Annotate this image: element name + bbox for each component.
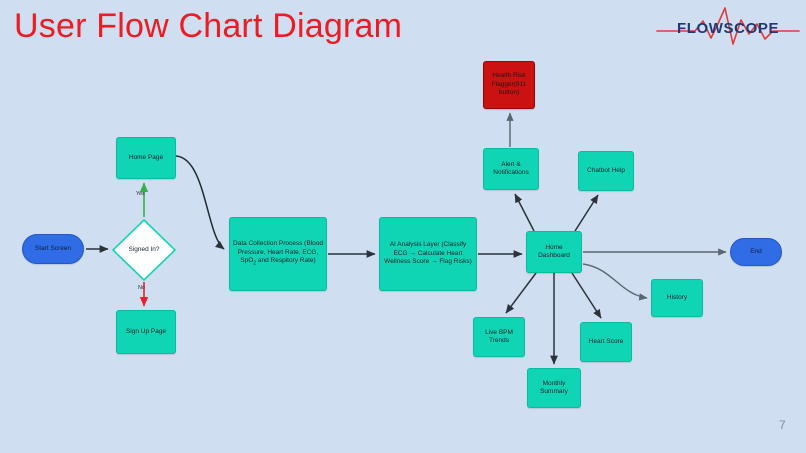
slide-canvas: User Flow Chart Diagram FLOWSCOPE 7: [0, 0, 806, 453]
node-label: Sign Up Page: [126, 328, 166, 336]
edge-label-no: No: [138, 285, 145, 291]
node-end[interactable]: End: [730, 238, 782, 266]
edge-label-yes: Yes: [136, 191, 145, 197]
node-label: AI Analysis Layer (Classify ECG → Calcul…: [383, 241, 473, 266]
node-label: Live BPM Trends: [477, 329, 521, 346]
node-label: History: [667, 294, 687, 302]
node-label: Data Collection Process (Blood Pressure,…: [233, 240, 323, 268]
node-health-risk-flagger[interactable]: Health Risk Flagger(911 button): [483, 61, 535, 109]
node-label: Signed In?: [128, 246, 159, 254]
node-history[interactable]: History: [651, 279, 703, 317]
node-alert-notifications[interactable]: Alert & Notifications: [483, 148, 539, 190]
edge-dashboard-alerts: [515, 194, 534, 231]
node-start-screen[interactable]: Start Screen: [22, 234, 84, 264]
edge-homepage-datacollect: [176, 156, 224, 249]
node-home-dashboard[interactable]: Home Dashboard: [526, 231, 582, 273]
node-signed-in-decision[interactable]: Signed In?: [112, 219, 176, 281]
node-ai-analysis-layer[interactable]: AI Analysis Layer (Classify ECG → Calcul…: [379, 217, 477, 291]
node-data-collection-process[interactable]: Data Collection Process (Blood Pressure,…: [229, 217, 327, 291]
edge-dashboard-bpm: [506, 273, 536, 313]
node-label: End: [750, 248, 762, 256]
node-label: Alert & Notifications: [487, 161, 535, 178]
edge-dashboard-chatbot: [575, 195, 598, 231]
node-monthly-summary[interactable]: Monthly Summary: [527, 368, 581, 408]
edge-dashboard-history: [583, 264, 647, 298]
node-label: Monthly Summary: [531, 380, 577, 397]
node-label: Home Dashboard: [530, 244, 578, 261]
node-sign-up-page[interactable]: Sign Up Page: [116, 310, 176, 354]
node-chatbot-help[interactable]: Chatbot Help: [578, 151, 634, 191]
edge-dashboard-heart: [572, 273, 601, 318]
node-label: Home Page: [129, 154, 163, 162]
node-label: Health Risk Flagger(911 button): [487, 72, 531, 97]
node-live-bpm-trends[interactable]: Live BPM Trends: [473, 317, 525, 357]
node-label: Heart Score: [589, 338, 624, 346]
node-label: Chatbot Help: [587, 167, 625, 175]
node-home-page[interactable]: Home Page: [116, 137, 176, 179]
node-heart-score[interactable]: Heart Score: [580, 322, 632, 362]
node-label: Start Screen: [35, 245, 71, 253]
